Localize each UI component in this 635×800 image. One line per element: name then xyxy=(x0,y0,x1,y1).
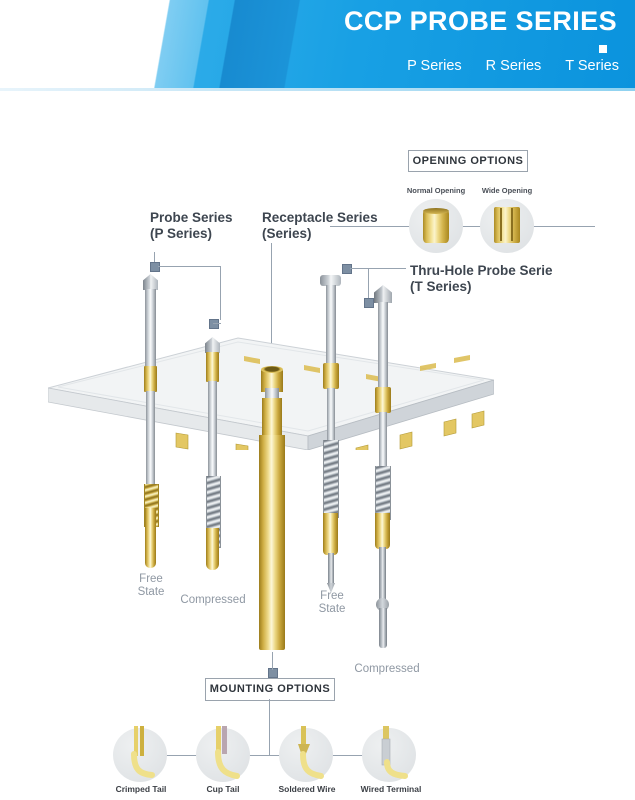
thruhole-leader-v xyxy=(368,268,369,300)
wired-terminal-icon xyxy=(369,726,411,782)
probe4-plunger xyxy=(323,513,338,555)
tab-active-marker-icon xyxy=(599,45,607,53)
tab-r-series[interactable]: R Series xyxy=(486,58,542,74)
probe5-bushing xyxy=(375,387,391,413)
probe-series-label: Probe Series (P Series) xyxy=(150,210,270,241)
thruhole-leader-h xyxy=(350,268,406,269)
receptacle-bottom-leader-dot xyxy=(268,668,278,678)
cup-tail-caption: Cup Tail xyxy=(185,784,261,794)
wide-opening-caption: Wide Opening xyxy=(464,186,550,195)
probe5-tip-icon xyxy=(374,285,392,303)
thru-hole-series-label: Thru-Hole Probe Serie (T Series) xyxy=(410,263,610,294)
wide-opening-slot-2 xyxy=(511,208,513,241)
opening-options-title: OPENING OPTIONS xyxy=(408,150,528,172)
infographic-page: CCP PROBE SERIES P Series R Series T Ser… xyxy=(0,0,635,800)
soldered-wire-caption: Soldered Wire xyxy=(266,784,348,794)
probe1-barrel-lower xyxy=(146,391,155,485)
thruhole-leader-dot-left xyxy=(342,264,352,274)
probe4-state-label: Free State xyxy=(303,590,361,616)
probe1-plunger xyxy=(145,508,156,568)
gold-cylinder-solid-icon xyxy=(423,209,449,243)
series-tab-list: P Series R Series T Series xyxy=(407,58,619,74)
probe2-plunger xyxy=(206,528,219,570)
probe4-bushing xyxy=(323,363,339,389)
probe5-plunger xyxy=(375,513,390,549)
receptacle-bore-opening xyxy=(261,366,283,373)
mounting-options-title: MOUNTING OPTIONS xyxy=(205,678,335,701)
probe2-state-label: Compressed xyxy=(178,594,248,607)
probe5-tail-end xyxy=(379,608,387,648)
receptacle-series-label: Receptacle Series (Series) xyxy=(262,210,402,241)
receptacle-bottom-leader-v xyxy=(272,652,273,670)
crimped-tail-caption: Crimped Tail xyxy=(100,784,182,794)
receptacle-main-tube xyxy=(259,435,285,650)
cup-tail-icon xyxy=(203,726,243,782)
probe2-barrel xyxy=(208,381,217,477)
probe5-barrel-upper xyxy=(378,302,388,388)
crimped-tail-icon xyxy=(120,726,160,782)
probe4-spring xyxy=(323,440,339,518)
mounting-options-stem-line xyxy=(269,699,270,755)
wired-terminal-caption: Wired Terminal xyxy=(348,784,434,794)
page-title: CCP PROBE SERIES xyxy=(344,6,617,37)
probe4-tail-pin xyxy=(328,553,334,585)
wide-opening-slot-1 xyxy=(500,208,502,241)
page-header: CCP PROBE SERIES P Series R Series T Ser… xyxy=(0,0,635,88)
probe1-bushing xyxy=(144,366,157,392)
probe1-state-label: Free State xyxy=(122,573,180,599)
probe-leader-h1 xyxy=(158,266,220,267)
normal-opening-rim xyxy=(423,208,449,214)
thruhole-leader-dot-bottom xyxy=(364,298,374,308)
probe-leader-v2 xyxy=(220,266,221,320)
soldered-wire-icon xyxy=(286,726,326,782)
probe-leader-dot-top xyxy=(150,262,160,272)
gold-cylinder-slotted-icon xyxy=(494,207,520,243)
probe1-tip-icon xyxy=(143,274,158,290)
tab-t-series[interactable]: T Series xyxy=(565,58,619,74)
probe2-bushing xyxy=(206,352,219,382)
receptacle-upper-body xyxy=(262,398,282,438)
tab-p-series[interactable]: P Series xyxy=(407,58,462,74)
probe5-spring xyxy=(375,466,391,520)
header-divider-rule xyxy=(0,88,635,91)
probe1-barrel-upper xyxy=(145,289,156,367)
probe4-barrel-upper xyxy=(326,285,336,364)
probe5-state-label: Compressed xyxy=(352,663,422,676)
